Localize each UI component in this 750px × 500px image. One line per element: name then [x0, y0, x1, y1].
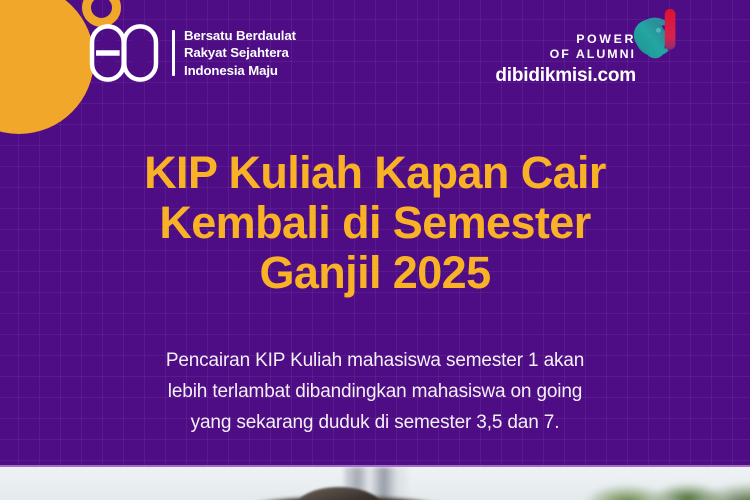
orange-circle-decoration	[0, 0, 94, 134]
headline-line-2: Kembali di Semester	[159, 197, 590, 248]
tagline-line-2: Rakyat Sejahtera	[184, 44, 296, 61]
anniversary-logo-lockup: Bersatu Berdaulat Rakyat Sejahtera Indon…	[84, 22, 296, 84]
headline: KIP Kuliah Kapan Cair Kembali di Semeste…	[0, 148, 750, 298]
body-line-1: Pencairan KIP Kuliah mahasiswa semester …	[166, 350, 584, 371]
logo-divider	[172, 30, 175, 76]
tagline-line-1: Bersatu Berdaulat	[184, 27, 296, 44]
headline-line-3: Ganjil 2025	[259, 247, 490, 298]
anniversary-tagline: Bersatu Berdaulat Rakyat Sejahtera Indon…	[184, 27, 296, 78]
poster-graphic: Bersatu Berdaulat Rakyat Sejahtera Indon…	[0, 0, 750, 500]
dibidikmisi-wordmark: POWER OF ALUMNI dibidikmisi.com	[495, 28, 636, 87]
tagline-line-3: Indonesia Maju	[184, 62, 296, 79]
dibidikmisi-domain: dibidikmisi.com	[495, 65, 636, 87]
power-label: POWER	[495, 32, 636, 47]
photo-foliage	[570, 471, 750, 500]
body-line-2: lebih terlambat dibandingkan mahasiswa o…	[168, 381, 582, 402]
of-alumni-label: OF ALUMNI	[495, 47, 636, 62]
headline-line-1: KIP Kuliah Kapan Cair	[144, 147, 606, 198]
purple-background-panel: Bersatu Berdaulat Rakyat Sejahtera Indon…	[0, 0, 750, 467]
body-paragraph: Pencairan KIP Kuliah mahasiswa semester …	[0, 346, 750, 438]
body-line-3: yang sekarang duduk di semester 3,5 dan …	[191, 412, 560, 433]
eighty-logo-icon	[84, 22, 164, 84]
dibidikmisi-d-mark-icon	[626, 6, 688, 68]
dibidikmisi-logo-lockup: POWER OF ALUMNI dibidikmisi.com	[495, 28, 688, 87]
photo-strip	[0, 467, 750, 500]
